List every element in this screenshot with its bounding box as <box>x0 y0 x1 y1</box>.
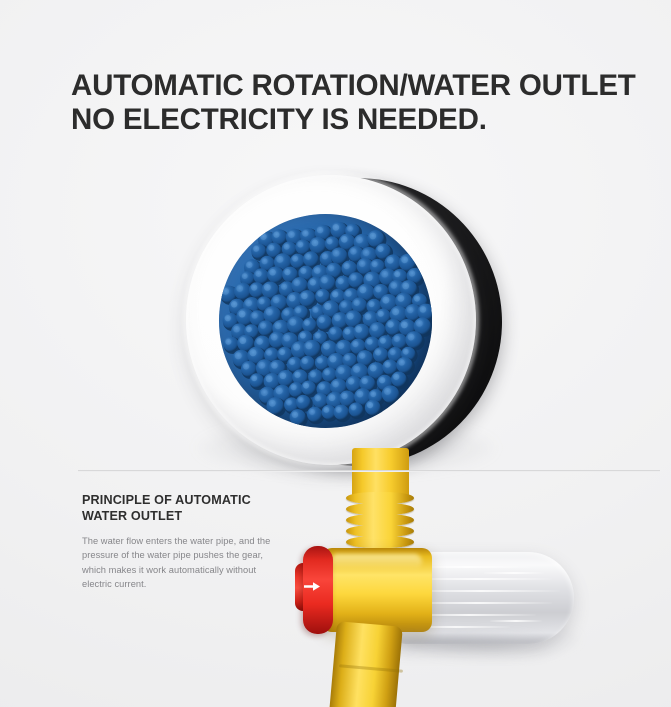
caption-title-line-1: PRINCIPLE OF AUTOMATIC <box>82 493 312 509</box>
caption-body: The water flow enters the water pipe, an… <box>82 534 312 591</box>
tee-body-highlight <box>330 554 422 570</box>
caption-body-line-4: electric current. <box>82 577 312 591</box>
product-illustration <box>0 0 671 707</box>
caption-body-line-2: pressure of the water pipe pushes the ge… <box>82 548 312 562</box>
cartridge-rib <box>484 572 544 574</box>
caption-title: PRINCIPLE OF AUTOMATIC WATER OUTLET <box>82 493 312 524</box>
caption-body-line-3: which makes it work automatically withou… <box>82 563 312 577</box>
caption-title-line-2: WATER OUTLET <box>82 509 312 525</box>
product-feature-panel: AUTOMATIC ROTATION/WATER OUTLET NO ELECT… <box>0 0 671 707</box>
handle-shadow <box>392 628 542 656</box>
ribbed-flexible-neck <box>346 492 414 554</box>
caption-body-line-1: The water flow enters the water pipe, an… <box>82 534 312 548</box>
cartridge-rib <box>490 620 542 622</box>
section-divider <box>78 470 660 472</box>
caption-block: PRINCIPLE OF AUTOMATIC WATER OUTLET The … <box>82 493 312 591</box>
neck-rib <box>346 536 414 548</box>
